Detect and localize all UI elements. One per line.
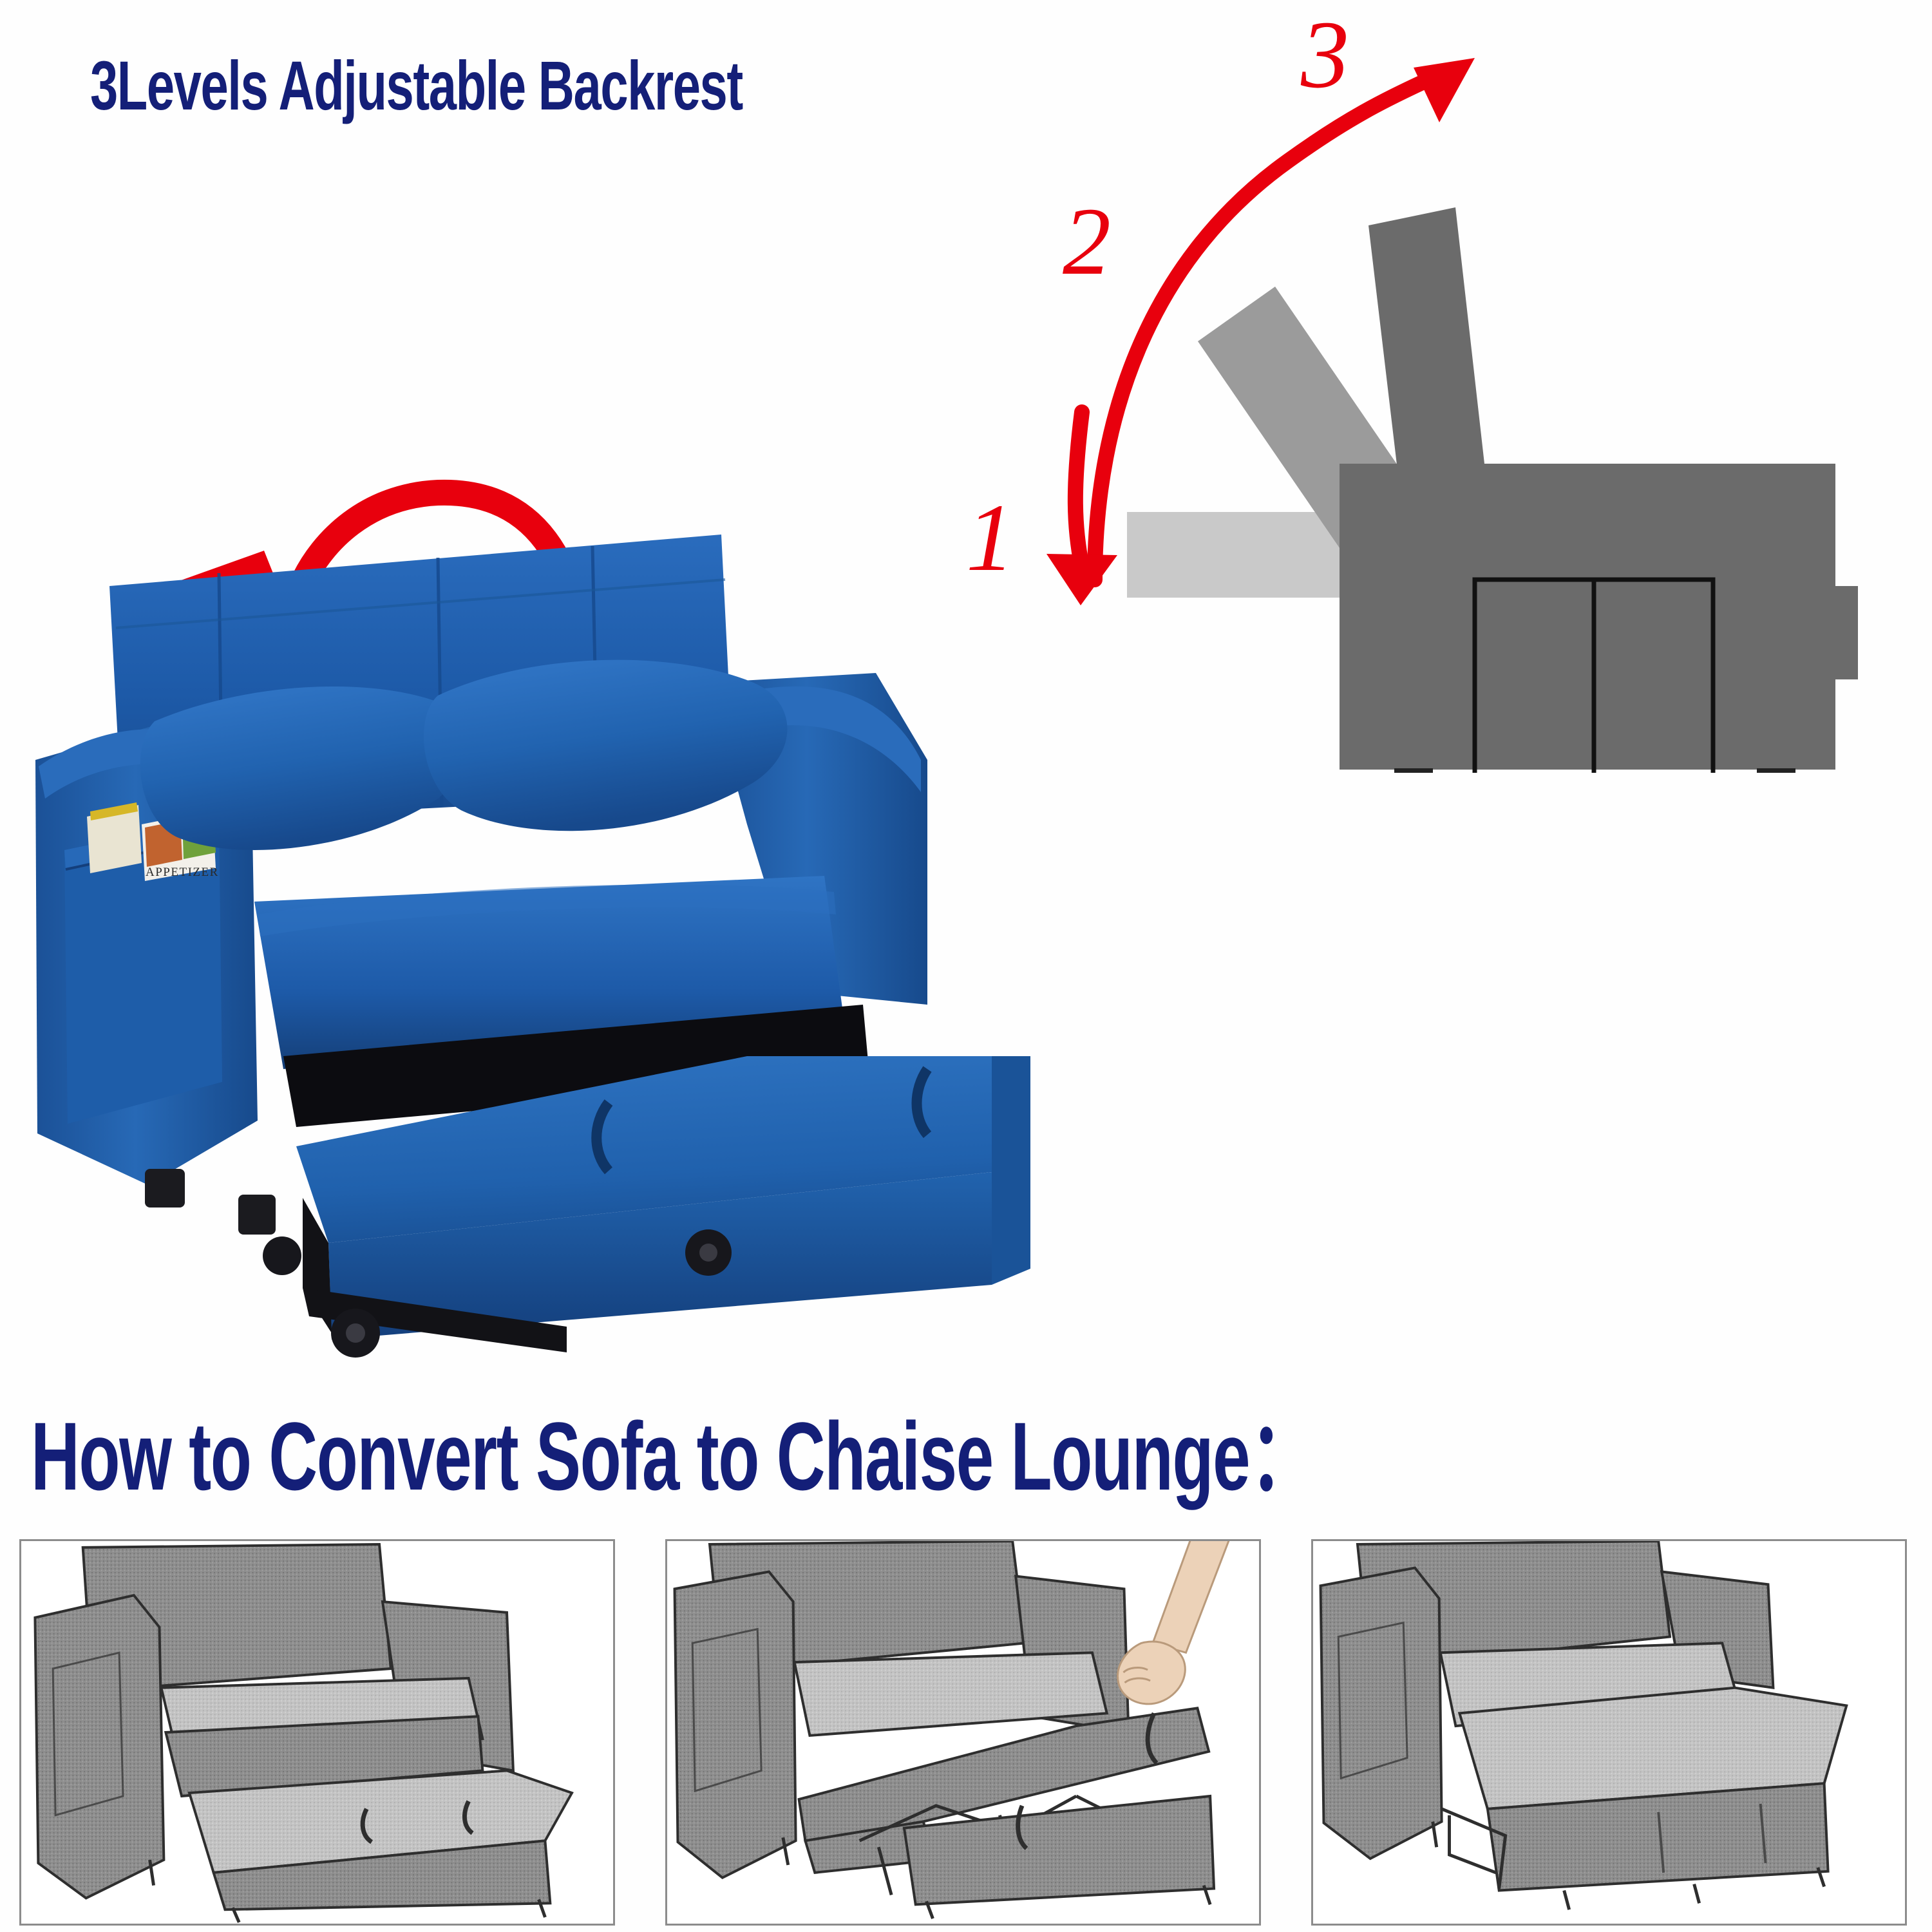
sketch-arm-left	[35, 1595, 164, 1898]
magazine-title-text: APPETIZER	[146, 866, 219, 879]
backrest-schematic-diagram	[1127, 161, 1932, 773]
page-title-convert: How to Convert Sofa to Chaise Lounge：	[31, 1378, 1316, 1518]
throw-pillow-right	[424, 660, 788, 831]
infographic-page: 3Levels Adjustable Backrest 1 2 3	[0, 0, 1932, 1932]
sketch-arm-left	[675, 1572, 796, 1878]
sofa-body-schematic	[1340, 464, 1858, 770]
backrest-position-upright	[1368, 207, 1484, 470]
sketch-chaise-mattress	[1459, 1688, 1846, 1891]
blue-sofa-product-image: APPETIZER	[26, 489, 1198, 1365]
step-number-3: 3	[1301, 6, 1349, 103]
sketch-pull-out-bed	[189, 1770, 572, 1909]
convert-step-panel-2	[665, 1539, 1261, 1926]
step-number-2: 2	[1063, 193, 1111, 290]
page-title-backrest: 3Levels Adjustable Backrest	[90, 45, 743, 126]
sketch-arm-left	[1321, 1568, 1442, 1859]
throw-pillow-left	[140, 687, 467, 850]
convert-step-panel-3	[1311, 1539, 1907, 1926]
sketch-seat-cushion	[795, 1653, 1107, 1736]
caster-wheel	[263, 1236, 301, 1275]
convert-step-panel-1	[19, 1539, 615, 1926]
hand-pulling-strap-icon	[1117, 1541, 1230, 1704]
